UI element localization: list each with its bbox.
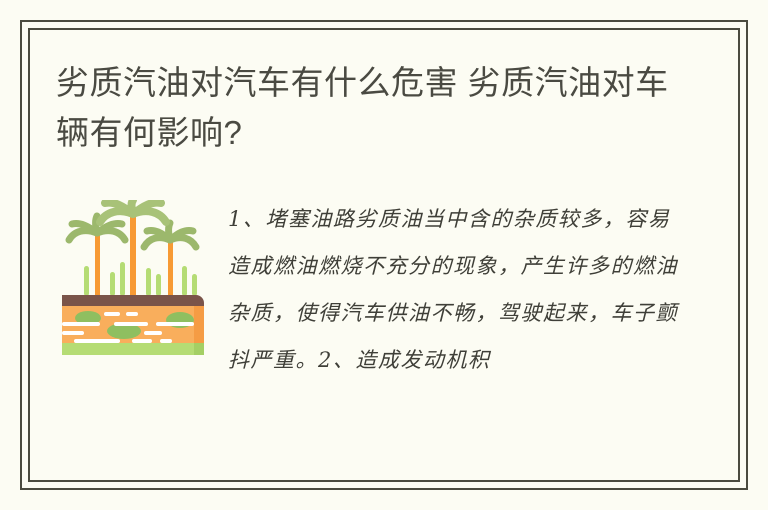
article-body-text: 1、堵塞油路劣质油当中含的杂质较多，容易造成燃油燃烧不充分的现象，产生许多的燃油…	[228, 196, 678, 384]
card-content: 劣质汽油对汽车有什么危害 劣质汽油对车辆有何影响?	[28, 28, 740, 482]
page-root: 劣质汽油对汽车有什么危害 劣质汽油对车辆有何影响?	[0, 0, 768, 510]
article-body-section: 1、堵塞油路劣质油当中含的杂质较多，容易造成燃油燃烧不充分的现象，产生许多的燃油…	[28, 196, 740, 476]
article-thumbnail	[58, 200, 210, 356]
page-title: 劣质汽油对汽车有什么危害 劣质汽油对车辆有何影响?	[56, 58, 676, 158]
palm-trees-sand-cross-section-icon	[58, 200, 210, 356]
